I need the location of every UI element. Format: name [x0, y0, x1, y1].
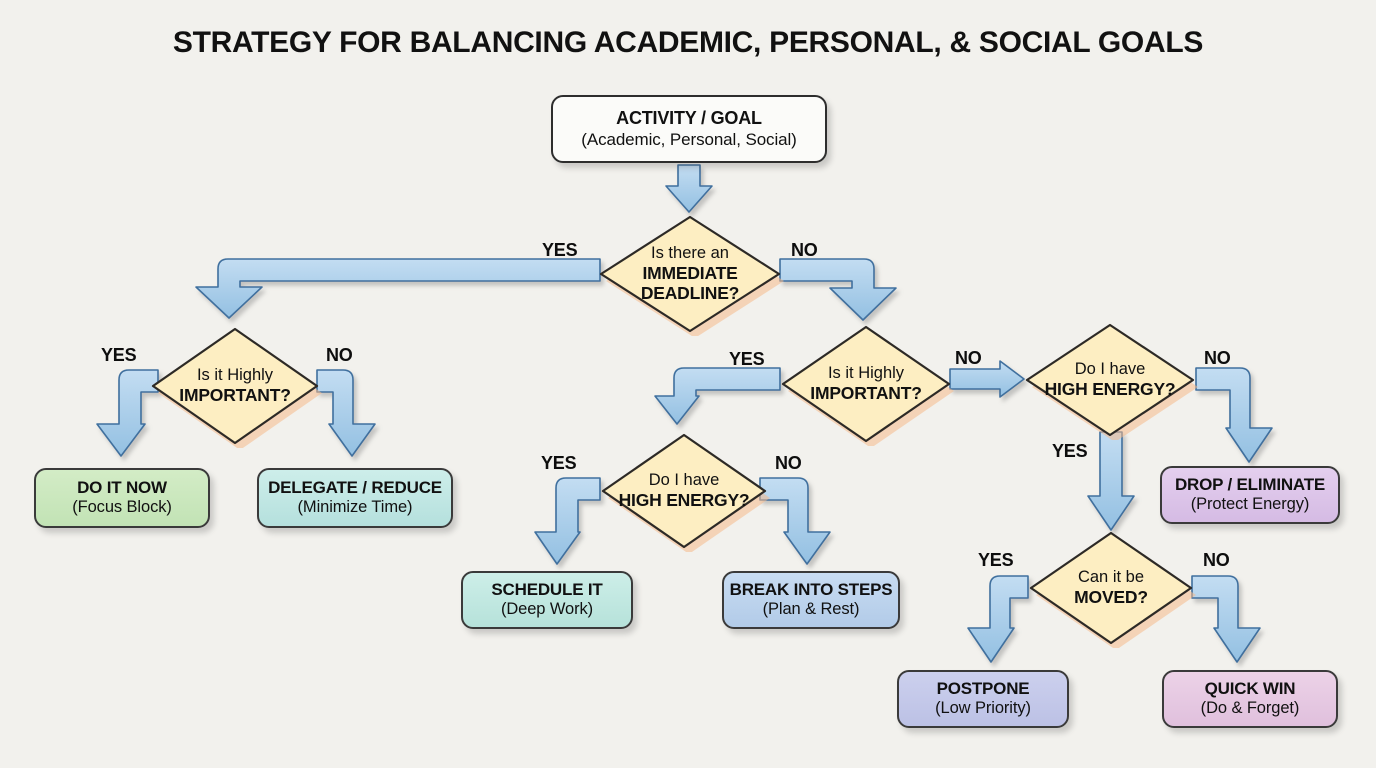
node-start-line1: ACTIVITY / GOAL — [616, 108, 762, 129]
node-decision-energy-mid[interactable]: Do I have HIGH ENERGY? — [598, 430, 770, 552]
node-decision-energy-right[interactable]: Do I have HIGH ENERGY? — [1022, 320, 1198, 440]
node-postpone-line1: POSTPONE — [937, 679, 1030, 699]
node-deadline-line3: DEADLINE? — [641, 283, 739, 303]
flowchart-canvas: STRATEGY FOR BALANCING ACADEMIC, PERSONA… — [0, 0, 1376, 768]
edge-label-mid-energy-no: NO — [775, 453, 802, 474]
edge-label-mid-important-no: NO — [955, 348, 982, 369]
node-important-left-line1: Is it Highly — [197, 366, 273, 385]
arrow-right-energy-no — [1196, 368, 1272, 462]
node-important-left-line2: IMPORTANT? — [179, 385, 290, 405]
node-do-it-now-line1: DO IT NOW — [77, 478, 167, 498]
node-decision-important-mid[interactable]: Is it Highly IMPORTANT? — [778, 322, 954, 446]
node-important-mid-line1: Is it Highly — [828, 364, 904, 383]
node-deadline-line2: IMMEDIATE — [642, 263, 737, 283]
arrow-moved-yes — [968, 576, 1028, 662]
diamond-text: Is it Highly IMPORTANT? — [778, 322, 954, 446]
edge-label-right-energy-no: NO — [1204, 348, 1231, 369]
node-moved-line1: Can it be — [1078, 568, 1144, 587]
node-energy-right-line2: HIGH ENERGY? — [1045, 379, 1176, 399]
node-result-do-it-now[interactable]: DO IT NOW (Focus Block) — [34, 468, 210, 528]
node-result-quick-win[interactable]: QUICK WIN (Do & Forget) — [1162, 670, 1338, 728]
edge-label-moved-yes: YES — [978, 550, 1013, 571]
edge-label-right-energy-yes: YES — [1052, 441, 1087, 462]
node-energy-right-line1: Do I have — [1075, 360, 1146, 379]
diamond-text: Is it Highly IMPORTANT? — [148, 324, 322, 448]
node-decision-can-it-be-moved[interactable]: Can it be MOVED? — [1026, 528, 1196, 648]
node-delegate-line2: (Minimize Time) — [298, 498, 413, 517]
arrow-moved-no — [1192, 576, 1260, 662]
arrow-mid-important-yes — [655, 368, 780, 424]
node-quick-win-line1: QUICK WIN — [1205, 679, 1296, 699]
arrow-start-to-deadline — [666, 165, 712, 212]
node-deadline-line1: Is there an — [651, 244, 729, 263]
node-decision-immediate-deadline[interactable]: Is there an IMMEDIATE DEADLINE? — [596, 212, 784, 336]
arrow-deadline-yes — [196, 259, 600, 318]
node-postpone-line2: (Low Priority) — [935, 699, 1031, 718]
node-result-schedule-it[interactable]: SCHEDULE IT (Deep Work) — [461, 571, 633, 629]
node-start-line2: (Academic, Personal, Social) — [581, 130, 796, 150]
node-drop-line2: (Protect Energy) — [1191, 495, 1310, 514]
edge-label-mid-important-yes: YES — [729, 349, 764, 370]
node-important-mid-line2: IMPORTANT? — [810, 383, 921, 403]
diamond-text: Is there an IMMEDIATE DEADLINE? — [596, 212, 784, 336]
node-moved-line2: MOVED? — [1074, 587, 1148, 607]
node-energy-mid-line2: HIGH ENERGY? — [619, 490, 750, 510]
node-quick-win-line2: (Do & Forget) — [1201, 699, 1300, 718]
edge-label-mid-energy-yes: YES — [541, 453, 576, 474]
edge-label-moved-no: NO — [1203, 550, 1230, 571]
arrow-mid-energy-yes — [535, 478, 600, 564]
edge-label-deadline-no: NO — [791, 240, 818, 261]
diamond-text: Can it be MOVED? — [1026, 528, 1196, 648]
arrow-mid-energy-no — [760, 478, 830, 564]
node-break-steps-line2: (Plan & Rest) — [763, 600, 860, 619]
node-result-delegate-reduce[interactable]: DELEGATE / REDUCE (Minimize Time) — [257, 468, 453, 528]
page-title: STRATEGY FOR BALANCING ACADEMIC, PERSONA… — [0, 26, 1376, 60]
node-start-activity-goal[interactable]: ACTIVITY / GOAL (Academic, Personal, Soc… — [551, 95, 827, 163]
node-result-break-into-steps[interactable]: BREAK INTO STEPS (Plan & Rest) — [722, 571, 900, 629]
node-energy-mid-line1: Do I have — [649, 471, 720, 490]
diamond-text: Do I have HIGH ENERGY? — [1022, 320, 1198, 440]
node-schedule-line1: SCHEDULE IT — [491, 580, 602, 600]
node-do-it-now-line2: (Focus Block) — [72, 498, 172, 517]
node-result-drop-eliminate[interactable]: DROP / ELIMINATE (Protect Energy) — [1160, 466, 1340, 524]
node-break-steps-line1: BREAK INTO STEPS — [730, 580, 893, 600]
node-delegate-line1: DELEGATE / REDUCE — [268, 478, 442, 498]
edge-label-left-important-no: NO — [326, 345, 353, 366]
node-schedule-line2: (Deep Work) — [501, 600, 593, 619]
node-result-postpone[interactable]: POSTPONE (Low Priority) — [897, 670, 1069, 728]
arrow-deadline-no — [780, 259, 896, 320]
arrow-right-energy-yes — [1088, 432, 1134, 530]
edge-label-left-important-yes: YES — [101, 345, 136, 366]
node-decision-important-left[interactable]: Is it Highly IMPORTANT? — [148, 324, 322, 448]
node-drop-line1: DROP / ELIMINATE — [1175, 475, 1325, 495]
edge-label-deadline-yes: YES — [542, 240, 577, 261]
arrow-left-important-no — [317, 370, 375, 456]
diamond-text: Do I have HIGH ENERGY? — [598, 430, 770, 552]
